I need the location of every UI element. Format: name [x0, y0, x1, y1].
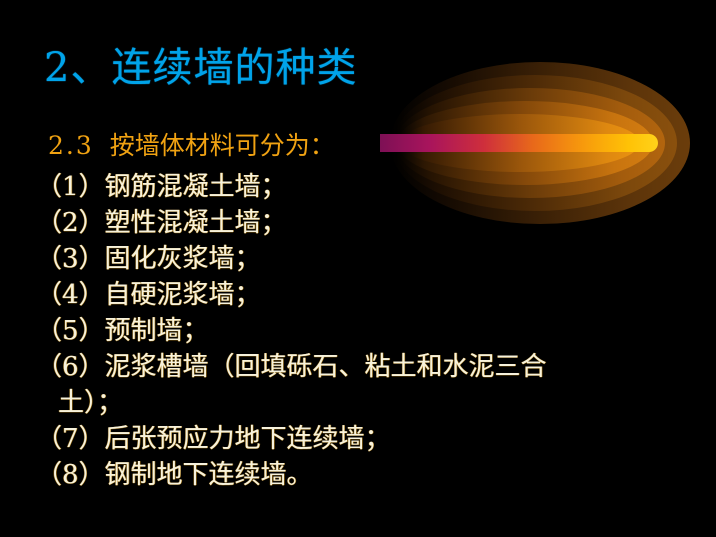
list-item: （4）自硬泥浆墙；: [36, 277, 708, 313]
list-item-text: （3）固化灰浆墙；: [36, 244, 261, 274]
list-item-text: （6）泥浆槽墙（回填砾石、粘土和水泥三合: [36, 352, 547, 382]
slide-subtitle: 2.3按墙体材料可分为：: [48, 131, 335, 161]
list-item: （3）固化灰浆墙；: [36, 241, 708, 277]
flare-halo-5: [400, 114, 640, 172]
list-item: （1）钢筋混凝土墙；: [36, 169, 708, 205]
content-list: （1）钢筋混凝土墙； （2）塑性混凝土墙； （3）固化灰浆墙； （4）自硬泥浆墙…: [36, 169, 708, 493]
slide-canvas: 2、连续墙的种类 2.3按墙体材料可分为： （1）钢筋混凝土墙； （2）塑性混凝…: [0, 0, 716, 537]
list-item-text: （8）钢制地下连续墙。: [36, 460, 313, 490]
list-item-text: （2）塑性混凝土墙；: [36, 208, 287, 238]
flare-core-bar: [380, 134, 658, 152]
list-item-text: （7）后张预应力地下连续墙；: [36, 424, 391, 454]
list-item: （8）钢制地下连续墙。: [36, 457, 708, 493]
list-item-text: （1）钢筋混凝土墙；: [36, 172, 287, 202]
list-item-continuation: 土）；: [36, 385, 708, 421]
list-item-text: （4）自硬泥浆墙；: [36, 280, 261, 310]
list-item: （2）塑性混凝土墙；: [36, 205, 708, 241]
list-item: （6）泥浆槽墙（回填砾石、粘土和水泥三合 土）；: [36, 349, 708, 421]
subtitle-number: 2.3: [48, 131, 94, 160]
list-item: （5）预制墙；: [36, 313, 708, 349]
list-item: （7）后张预应力地下连续墙；: [36, 421, 708, 457]
slide-title: 2、连续墙的种类: [44, 44, 357, 92]
list-item-text: （5）预制墙；: [36, 316, 209, 346]
subtitle-text: 按墙体材料可分为：: [110, 131, 335, 160]
